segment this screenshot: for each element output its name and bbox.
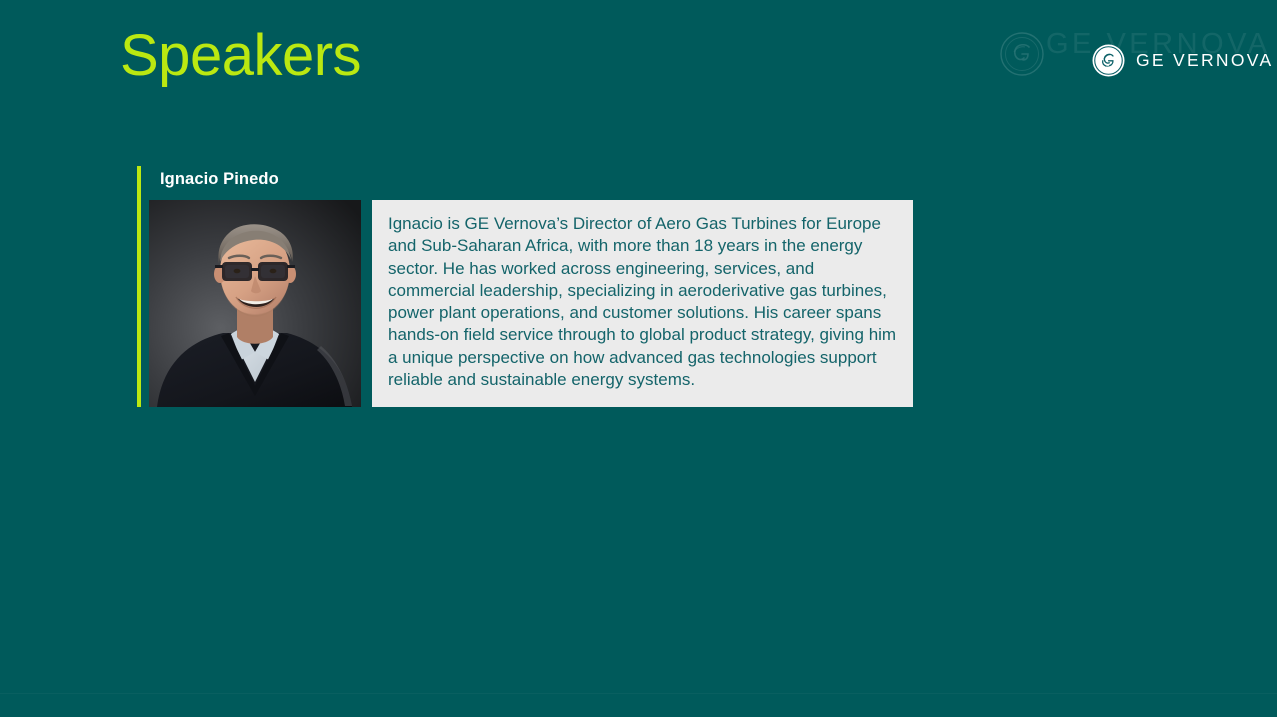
headshot-image (149, 200, 361, 407)
speaker-card: Ignacio Pinedo (137, 166, 913, 407)
speaker-bio-text: Ignacio is GE Vernova’s Director of Aero… (388, 213, 897, 391)
ge-monogram-ghost-icon (998, 30, 1046, 78)
speaker-photo (149, 200, 361, 407)
brand-wordmark: GE VERNOVA (1136, 52, 1273, 70)
speaker-name: Ignacio Pinedo (160, 170, 279, 189)
speaker-bio-panel: Ignacio is GE Vernova’s Director of Aero… (372, 200, 913, 407)
accent-bar (137, 166, 141, 407)
page-title: Speakers (120, 26, 361, 87)
ge-monogram-icon (1092, 44, 1125, 77)
brand-logo[interactable]: GE VERNOVA (1092, 44, 1273, 77)
slide-canvas: Speakers GE VERNOVA (0, 0, 1277, 717)
bottom-divider (0, 693, 1277, 694)
